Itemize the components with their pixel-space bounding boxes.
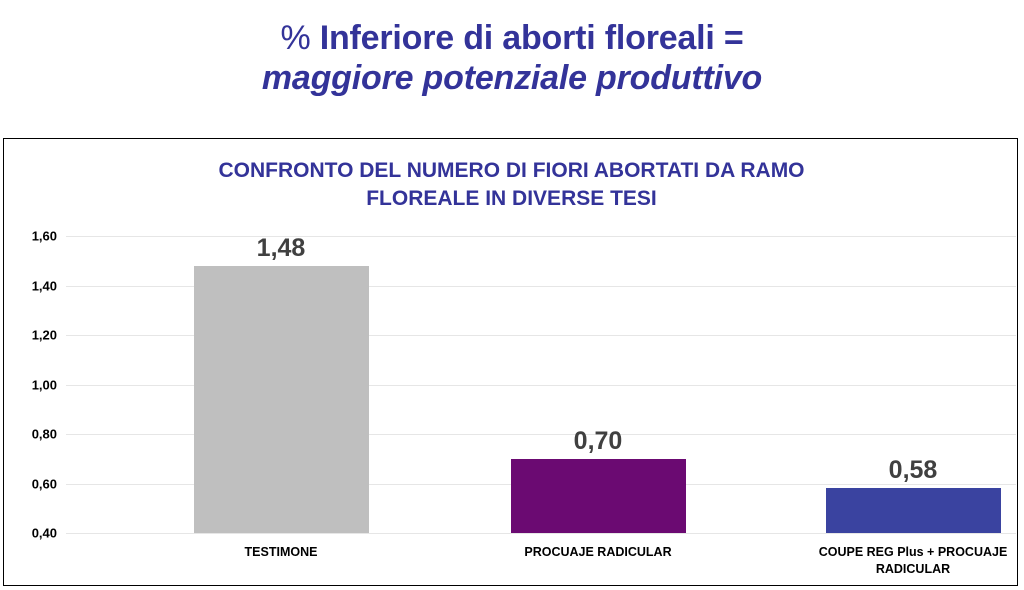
bar[interactable]: 1,48TESTIMONE xyxy=(194,266,369,533)
y-axis-tick-label: 1,40 xyxy=(32,278,57,293)
x-axis-category-label: PROCUAJE RADICULAR xyxy=(473,544,723,561)
headline-line-1: % Inferiore di aborti floreali = xyxy=(0,18,1024,58)
x-axis-category-label: TESTIMONE xyxy=(156,544,406,561)
bar[interactable]: 0,58COUPE REG Plus + PROCUAJE RADICULAR xyxy=(826,488,1001,533)
bar-value-label: 0,58 xyxy=(889,456,938,485)
y-axis-tick-label: 0,80 xyxy=(32,427,57,442)
chart-frame: CONFRONTO DEL NUMERO DI FIORI ABORTATI D… xyxy=(3,138,1018,586)
bar[interactable]: 0,70PROCUAJE RADICULAR xyxy=(511,459,686,533)
gridline: 1,60 xyxy=(66,236,1016,237)
chart-title-line-1: CONFRONTO DEL NUMERO DI FIORI ABORTATI D… xyxy=(218,159,804,182)
headline-line-2: maggiore potenziale produttivo xyxy=(0,58,1024,98)
y-axis-tick-label: 0,40 xyxy=(32,526,57,541)
headline-percent-symbol: % xyxy=(280,19,319,57)
bar-value-label: 0,70 xyxy=(574,427,623,456)
headline-line-1-text: Inferiore di aborti floreali = xyxy=(320,19,744,57)
chart-title-line-2: FLOREALE IN DIVERSE TESI xyxy=(366,187,657,210)
y-axis-tick-label: 0,60 xyxy=(32,476,57,491)
chart-title: CONFRONTO DEL NUMERO DI FIORI ABORTATI D… xyxy=(64,157,959,214)
y-axis-tick-label: 1,00 xyxy=(32,377,57,392)
gridline: 0,40 xyxy=(66,533,1016,534)
plot-area: 1,601,401,201,000,800,600,40 1,48TESTIMO… xyxy=(66,236,1016,533)
y-axis-tick-label: 1,60 xyxy=(32,229,57,244)
x-axis-category-label: COUPE REG Plus + PROCUAJE RADICULAR xyxy=(788,544,1024,578)
slide-headline: % Inferiore di aborti floreali = maggior… xyxy=(0,18,1024,98)
bar-value-label: 1,48 xyxy=(257,234,306,263)
y-axis-tick-label: 1,20 xyxy=(32,328,57,343)
